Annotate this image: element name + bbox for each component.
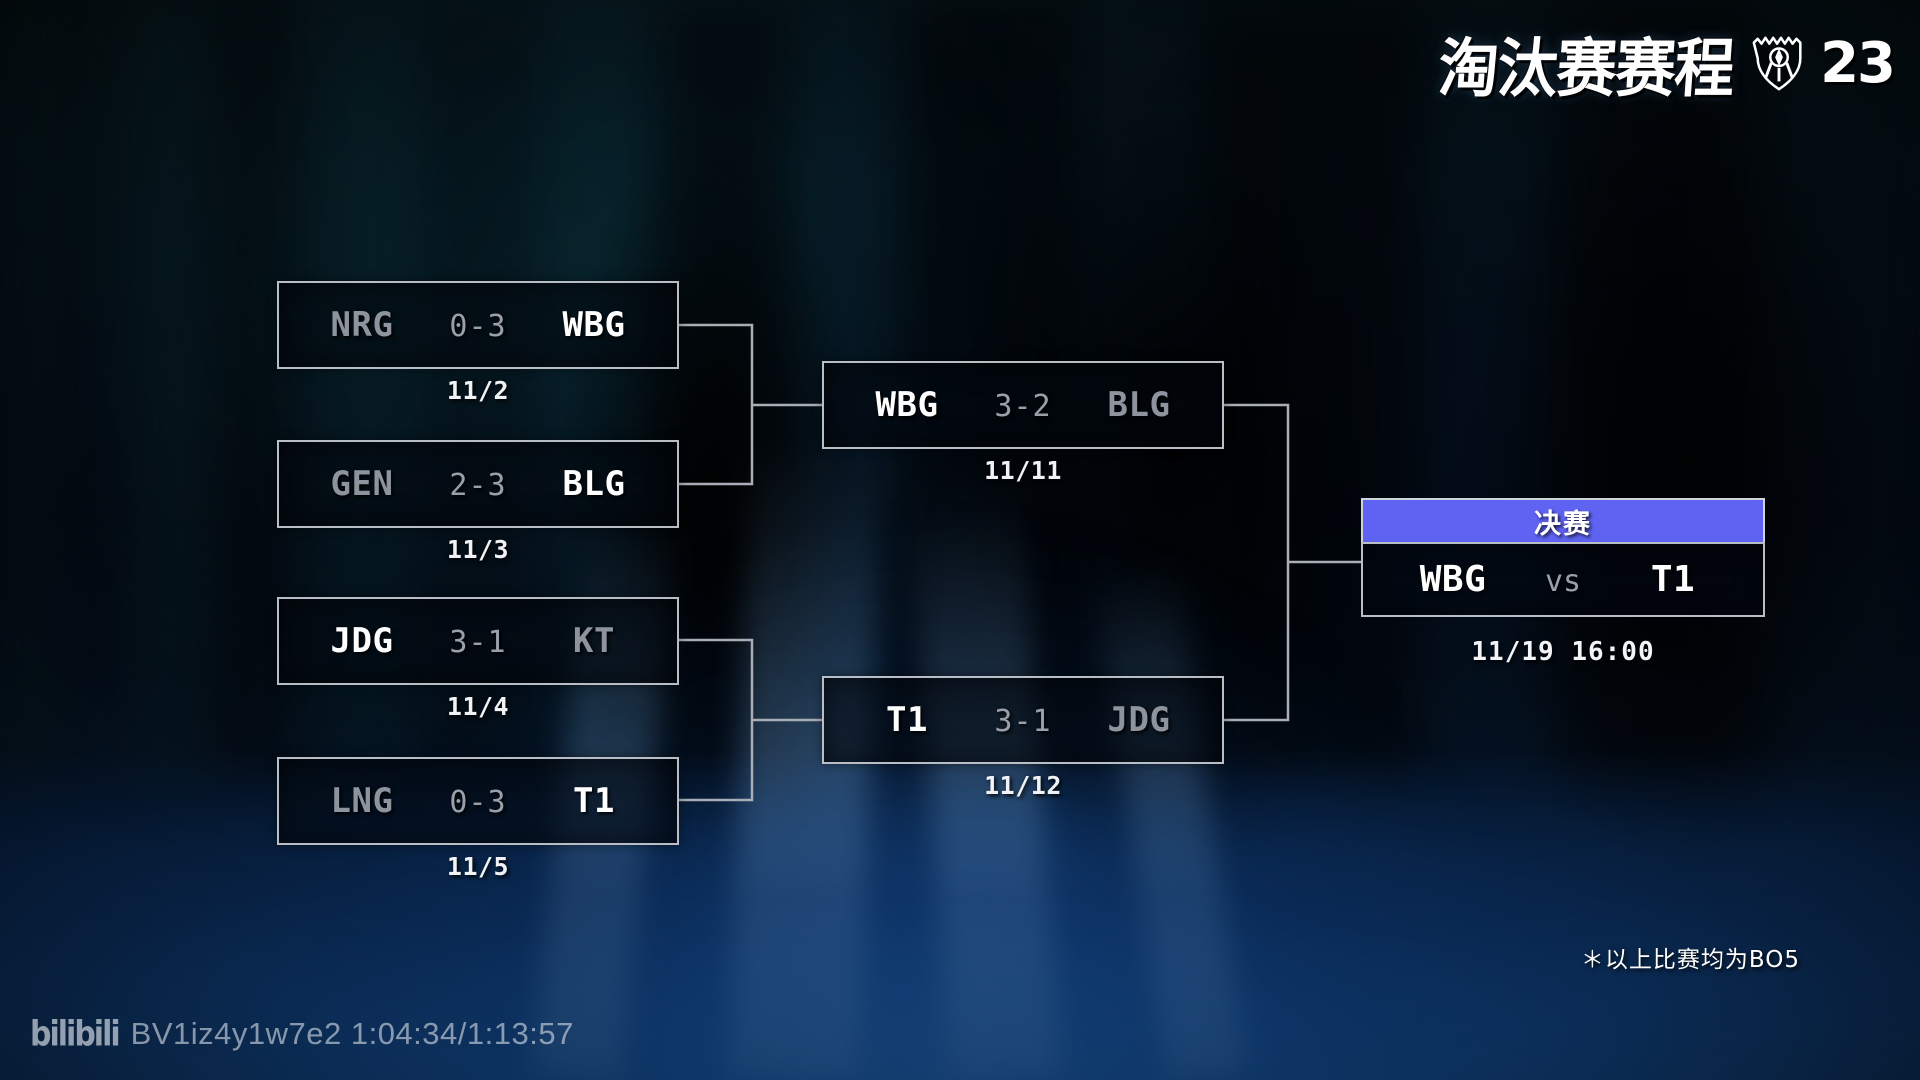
team-sf1-left: WBG: [841, 385, 973, 425]
match-box-qf2[interactable]: GEN 2-3 BLG: [277, 440, 679, 528]
team-qf2-right: BLG: [528, 464, 660, 504]
final-match-card[interactable]: 决赛 WBG vs T1: [1361, 498, 1765, 617]
bilibili-watermark: bilibili BV1iz4y1w7e2 1:04:34/1:13:57: [30, 1016, 574, 1052]
team-qf3-right: KT: [528, 621, 660, 661]
team-qf4-right: T1: [528, 781, 660, 821]
match-date-qf1: 11/2: [277, 376, 679, 405]
match-date-qf3: 11/4: [277, 692, 679, 721]
team-sf2-left: T1: [841, 700, 973, 740]
team-qf2-left: GEN: [296, 464, 428, 504]
team-sf2-right: JDG: [1073, 700, 1205, 740]
match-date-qf2: 11/3: [277, 535, 679, 564]
match-row-qf1: NRG 0-3 WBG: [279, 305, 677, 345]
match-date-sf1: 11/11: [822, 456, 1224, 485]
final-label: 决赛: [1534, 502, 1592, 541]
score-qf1: 0-3: [428, 309, 528, 344]
team-final-left: WBG: [1383, 559, 1523, 600]
match-box-sf1[interactable]: WBG 3-2 BLG: [822, 361, 1224, 449]
match-row-qf4: LNG 0-3 T1: [279, 781, 677, 821]
bo5-footnote: ＊以上比赛均为BO5: [1581, 940, 1800, 974]
page-header: 淘汰赛赛程 23: [1439, 20, 1894, 107]
team-qf1-right: WBG: [528, 305, 660, 345]
final-header-banner: 决赛: [1361, 498, 1765, 542]
score-qf4: 0-3: [428, 785, 528, 820]
score-qf2: 2-3: [428, 468, 528, 503]
match-box-qf4[interactable]: LNG 0-3 T1: [277, 757, 679, 845]
team-qf4-left: LNG: [296, 781, 428, 821]
match-box-qf1[interactable]: NRG 0-3 WBG: [277, 281, 679, 369]
team-final-right: T1: [1603, 559, 1743, 600]
match-row-sf2: T1 3-1 JDG: [824, 700, 1222, 740]
video-id-timestamp: BV1iz4y1w7e2 1:04:34/1:13:57: [131, 1016, 574, 1052]
match-row-qf2: GEN 2-3 BLG: [279, 464, 677, 504]
match-row-qf3: JDG 3-1 KT: [279, 621, 677, 661]
team-qf3-left: JDG: [296, 621, 428, 661]
final-datetime: 11/19 16:00: [1361, 637, 1765, 667]
final-match-body[interactable]: WBG vs T1: [1361, 542, 1765, 617]
match-date-qf4: 11/5: [277, 852, 679, 881]
match-box-qf3[interactable]: JDG 3-1 KT: [277, 597, 679, 685]
final-match-row: WBG vs T1: [1363, 559, 1763, 600]
worlds-year-label: 23: [1820, 31, 1894, 96]
page-title: 淘汰赛赛程: [1436, 17, 1737, 109]
bilibili-logo-icon: bilibili: [30, 1014, 119, 1054]
score-sf2: 3-1: [973, 704, 1073, 739]
match-row-sf1: WBG 3-2 BLG: [824, 385, 1222, 425]
team-qf1-left: NRG: [296, 305, 428, 345]
worlds-crest-icon: [1748, 33, 1810, 95]
team-sf1-right: BLG: [1073, 385, 1205, 425]
score-qf3: 3-1: [428, 625, 528, 660]
match-box-sf2[interactable]: T1 3-1 JDG: [822, 676, 1224, 764]
match-date-sf2: 11/12: [822, 771, 1224, 800]
score-sf1: 3-2: [973, 389, 1073, 424]
final-vs-label: vs: [1523, 564, 1603, 599]
